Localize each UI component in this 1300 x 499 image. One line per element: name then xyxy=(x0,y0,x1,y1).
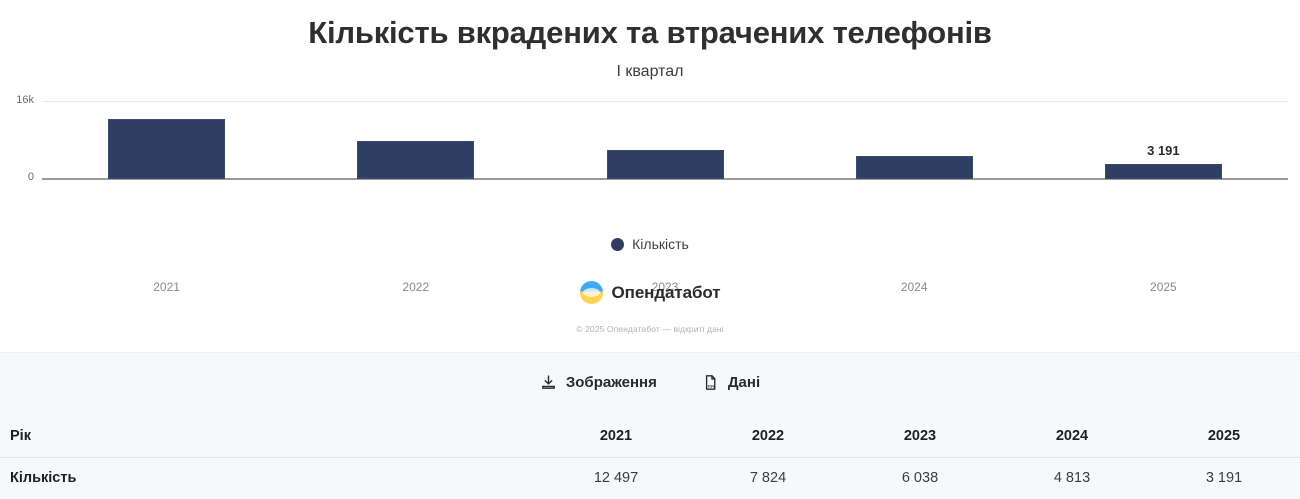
download-image-button[interactable]: Зображення xyxy=(540,373,657,391)
bar-2024[interactable] xyxy=(856,156,973,179)
table-column-header: 2025 xyxy=(1148,415,1300,457)
table-column-header: 2024 xyxy=(996,415,1148,457)
download-image-label: Зображення xyxy=(566,374,657,391)
brand-name: Опендатабот xyxy=(612,283,721,303)
table-row: Кількість 12 497 7 824 6 038 4 813 3 191 xyxy=(0,457,1300,499)
bar-2023[interactable] xyxy=(607,150,724,179)
bar-2025[interactable] xyxy=(1105,164,1222,179)
y-axis-tick-top: 16k xyxy=(16,94,34,106)
table-column-header: 2023 xyxy=(844,415,996,457)
download-icon xyxy=(540,373,558,391)
download-data-button[interactable]: csv Дані xyxy=(702,373,760,391)
csv-file-icon: csv xyxy=(702,373,720,391)
table-cell-value: 4 813 xyxy=(996,457,1148,499)
brand-logo: Опендатабот xyxy=(0,281,1300,304)
table-column-header: 2021 xyxy=(540,415,692,457)
table-cell-value: 3 191 xyxy=(1148,457,1300,499)
copyright-text: © 2025 Опендатабот — відкриті дані xyxy=(0,324,1300,334)
chart-card: Кількість вкрадених та втрачених телефон… xyxy=(0,0,1300,352)
table-cell-value: 7 824 xyxy=(692,457,844,499)
legend-marker-icon xyxy=(611,238,624,251)
chart-legend: Кількість xyxy=(0,236,1300,252)
bar-chart-plot-area: 16k 0 3 191 20212022202320242025 xyxy=(0,92,1300,192)
chart-title: Кількість вкрадених та втрачених телефон… xyxy=(0,14,1300,51)
table-cell-value: 6 038 xyxy=(844,457,996,499)
bar-2021[interactable] xyxy=(108,119,225,179)
table-row: Рік 2021 2022 2023 2024 2025 xyxy=(0,415,1300,457)
opendatabot-logo-icon xyxy=(580,281,603,304)
table-row-header-year: Рік xyxy=(0,415,540,457)
download-actions: Зображення csv Дані xyxy=(0,373,1300,391)
bar-2022[interactable] xyxy=(357,141,474,179)
svg-text:csv: csv xyxy=(708,383,716,388)
chart-subtitle: I квартал xyxy=(0,63,1300,81)
table-row-header-count: Кількість xyxy=(0,457,540,499)
gridline-16k xyxy=(42,101,1288,102)
download-data-label: Дані xyxy=(728,374,760,391)
legend-label: Кількість xyxy=(632,236,689,252)
data-table: Рік 2021 2022 2023 2024 2025 Кількість 1… xyxy=(0,415,1300,499)
bar-value-label-2025: 3 191 xyxy=(1103,143,1223,158)
table-cell-value: 12 497 xyxy=(540,457,692,499)
y-axis-tick-zero: 0 xyxy=(28,171,34,183)
bottom-panel: Зображення csv Дані Рік 2021 2022 2023 2… xyxy=(0,352,1300,499)
table-column-header: 2022 xyxy=(692,415,844,457)
